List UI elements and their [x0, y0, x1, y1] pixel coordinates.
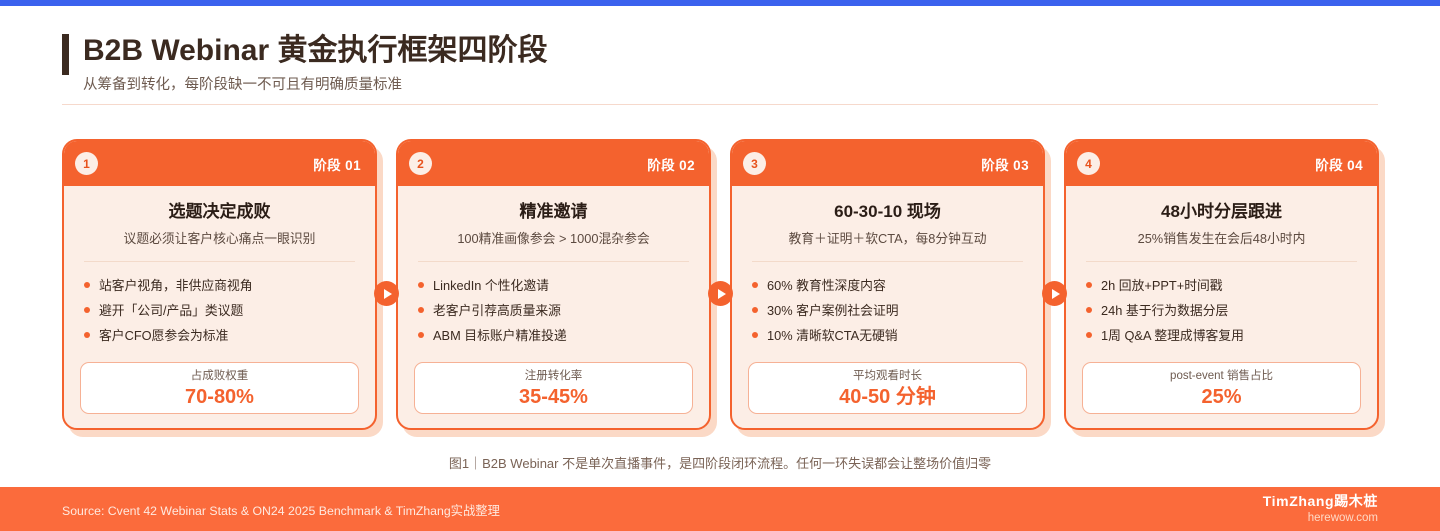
stage-stat-value: 70-80% — [185, 385, 254, 409]
header-divider — [62, 104, 1378, 105]
card-bullet-label: 站客户视角，非供应商视角 — [99, 278, 253, 293]
card-bullet: 24h 基于行为数据分层 — [1086, 298, 1361, 323]
card-bullet: 60% 教育性深度内容 — [752, 273, 1027, 298]
figure-caption: 图1｜B2B Webinar 不是单次直播事件，是四阶段闭环流程。任何一环失误都… — [0, 454, 1440, 474]
stage-card-3[interactable]: 3阶段 0360-30-10 现场教育＋证明＋软CTA，每8分钟互动60% 教育… — [730, 139, 1045, 430]
stage-bullet-list: 60% 教育性深度内容30% 客户案例社会证明10% 清晰软CTA无硬销 — [748, 273, 1027, 348]
play-arrow-icon — [1042, 281, 1067, 306]
card-bullet: 1周 Q&A 整理成博客复用 — [1086, 323, 1361, 348]
stage-card-body: 4阶段 0448小时分层跟进25%销售发生在会后48小时内2h 回放+PPT+时… — [1064, 139, 1379, 430]
card-bullet-label: 60% 教育性深度内容 — [767, 278, 886, 293]
play-triangle-icon — [384, 289, 392, 299]
stage-subtitle: 教育＋证明＋软CTA，每8分钟互动 — [748, 229, 1027, 249]
card-bullet-label: 老客户引荐高质量来源 — [433, 303, 561, 318]
card-bullet-label: 30% 客户案例社会证明 — [767, 303, 899, 318]
brand-url: herewow.com — [1263, 511, 1378, 526]
stage-card-divider — [418, 261, 689, 262]
stage-title: 选题决定成败 — [80, 200, 359, 224]
title-text-group: B2B Webinar 黄金执行框架四阶段 从筹备到转化，每阶段缺一不可且有明确… — [83, 32, 548, 96]
play-triangle-icon — [718, 289, 726, 299]
stage-stat-box: post-event 销售占比25% — [1082, 362, 1361, 414]
stage-card-divider — [1086, 261, 1357, 262]
bullet-dot-icon — [84, 332, 90, 338]
stage-subtitle: 25%销售发生在会后48小时内 — [1082, 229, 1361, 249]
stage-card-2[interactable]: 2阶段 02精准邀请100精准画像参会 > 1000混杂参会LinkedIn 个… — [396, 139, 711, 430]
card-bullet: 30% 客户案例社会证明 — [752, 298, 1027, 323]
stage-card-content: 60-30-10 现场教育＋证明＋软CTA，每8分钟互动60% 教育性深度内容3… — [732, 186, 1043, 428]
stage-cards-row: 1阶段 01选题决定成败议题必须让客户核心痛点一眼识别站客户视角，非供应商视角避… — [62, 139, 1378, 430]
title-row: B2B Webinar 黄金执行框架四阶段 从筹备到转化，每阶段缺一不可且有明确… — [62, 32, 1378, 96]
stage-stat-label: post-event 销售占比 — [1170, 368, 1273, 384]
stage-label: 阶段 01 — [313, 154, 361, 174]
stage-card-header: 2阶段 02 — [398, 141, 709, 186]
card-bullet-label: 避开「公司/产品」类议题 — [99, 303, 243, 318]
bullet-dot-icon — [1086, 332, 1092, 338]
play-arrow-icon — [708, 281, 733, 306]
stage-title: 60-30-10 现场 — [748, 200, 1027, 224]
stage-card-4[interactable]: 4阶段 0448小时分层跟进25%销售发生在会后48小时内2h 回放+PPT+时… — [1064, 139, 1379, 430]
stage-card-content: 选题决定成败议题必须让客户核心痛点一眼识别站客户视角，非供应商视角避开「公司/产… — [64, 186, 375, 428]
stage-stat-label: 平均观看时长 — [853, 368, 922, 384]
card-bullet: 老客户引荐高质量来源 — [418, 298, 693, 323]
page-title: B2B Webinar 黄金执行框架四阶段 — [83, 32, 548, 70]
stage-title: 48小时分层跟进 — [1082, 200, 1361, 224]
card-bullet-label: 客户CFO愿参会为标准 — [99, 328, 228, 343]
bullet-dot-icon — [418, 332, 424, 338]
stage-title: 精准邀请 — [414, 200, 693, 224]
bullet-dot-icon — [418, 307, 424, 313]
bullet-dot-icon — [418, 282, 424, 288]
top-accent-strip — [0, 0, 1440, 6]
bullet-dot-icon — [1086, 282, 1092, 288]
stage-stat-label: 注册转化率 — [525, 368, 583, 384]
stage-card-divider — [84, 261, 355, 262]
stage-subtitle: 议题必须让客户核心痛点一眼识别 — [80, 229, 359, 249]
card-bullet: 客户CFO愿参会为标准 — [84, 323, 359, 348]
card-bullet-label: 24h 基于行为数据分层 — [1101, 303, 1228, 318]
title-accent-bar — [62, 34, 69, 75]
brand-name: TimZhang踢木桩 — [1263, 492, 1378, 511]
page-footer: Source: Cvent 42 Webinar Stats & ON24 20… — [0, 487, 1440, 531]
card-bullet: ABM 目标账户精准投递 — [418, 323, 693, 348]
stage-subtitle: 100精准画像参会 > 1000混杂参会 — [414, 229, 693, 249]
stage-card-header: 4阶段 04 — [1066, 141, 1377, 186]
stage-number-badge: 1 — [75, 152, 98, 175]
bullet-dot-icon — [84, 282, 90, 288]
page-subtitle: 从筹备到转化，每阶段缺一不可且有明确质量标准 — [83, 74, 548, 96]
bullet-dot-icon — [752, 307, 758, 313]
stage-stat-value: 25% — [1201, 385, 1241, 409]
card-bullet: 避开「公司/产品」类议题 — [84, 298, 359, 323]
bullet-dot-icon — [84, 307, 90, 313]
stage-label: 阶段 04 — [1315, 154, 1363, 174]
card-bullet: 站客户视角，非供应商视角 — [84, 273, 359, 298]
stage-bullet-list: 站客户视角，非供应商视角避开「公司/产品」类议题客户CFO愿参会为标准 — [80, 273, 359, 348]
bullet-dot-icon — [752, 282, 758, 288]
stage-card-header: 3阶段 03 — [732, 141, 1043, 186]
stage-bullet-list: 2h 回放+PPT+时间戳24h 基于行为数据分层1周 Q&A 整理成博客复用 — [1082, 273, 1361, 348]
stage-stat-value: 35-45% — [519, 385, 588, 409]
stage-stat-box: 占成败权重70-80% — [80, 362, 359, 414]
stage-stat-box: 注册转化率35-45% — [414, 362, 693, 414]
stage-card-body: 2阶段 02精准邀请100精准画像参会 > 1000混杂参会LinkedIn 个… — [396, 139, 711, 430]
card-bullet: 10% 清晰软CTA无硬销 — [752, 323, 1027, 348]
stage-card-content: 精准邀请100精准画像参会 > 1000混杂参会LinkedIn 个性化邀请老客… — [398, 186, 709, 428]
stage-card-1[interactable]: 1阶段 01选题决定成败议题必须让客户核心痛点一眼识别站客户视角，非供应商视角避… — [62, 139, 377, 430]
stage-bullet-list: LinkedIn 个性化邀请老客户引荐高质量来源ABM 目标账户精准投递 — [414, 273, 693, 348]
footer-brand: TimZhang踢木桩 herewow.com — [1263, 492, 1378, 526]
page-header: B2B Webinar 黄金执行框架四阶段 从筹备到转化，每阶段缺一不可且有明确… — [62, 32, 1378, 96]
card-bullet-label: ABM 目标账户精准投递 — [433, 328, 567, 343]
stage-label: 阶段 02 — [647, 154, 695, 174]
stage-card-header: 1阶段 01 — [64, 141, 375, 186]
stage-card-content: 48小时分层跟进25%销售发生在会后48小时内2h 回放+PPT+时间戳24h … — [1066, 186, 1377, 428]
stage-stat-box: 平均观看时长40-50 分钟 — [748, 362, 1027, 414]
stage-stat-value: 40-50 分钟 — [839, 385, 936, 409]
play-triangle-icon — [1052, 289, 1060, 299]
stage-label: 阶段 03 — [981, 154, 1029, 174]
card-bullet: LinkedIn 个性化邀请 — [418, 273, 693, 298]
bullet-dot-icon — [752, 332, 758, 338]
stage-number-badge: 3 — [743, 152, 766, 175]
card-bullet-label: 1周 Q&A 整理成博客复用 — [1101, 328, 1244, 343]
stage-stat-label: 占成败权重 — [191, 368, 249, 384]
card-bullet: 2h 回放+PPT+时间戳 — [1086, 273, 1361, 298]
stage-number-badge: 2 — [409, 152, 432, 175]
card-bullet-label: 10% 清晰软CTA无硬销 — [767, 328, 898, 343]
stage-card-body: 3阶段 0360-30-10 现场教育＋证明＋软CTA，每8分钟互动60% 教育… — [730, 139, 1045, 430]
card-bullet-label: LinkedIn 个性化邀请 — [433, 278, 549, 293]
stage-card-divider — [752, 261, 1023, 262]
card-bullet-label: 2h 回放+PPT+时间戳 — [1101, 278, 1223, 293]
stage-card-body: 1阶段 01选题决定成败议题必须让客户核心痛点一眼识别站客户视角，非供应商视角避… — [62, 139, 377, 430]
stage-number-badge: 4 — [1077, 152, 1100, 175]
bullet-dot-icon — [1086, 307, 1092, 313]
play-arrow-icon — [374, 281, 399, 306]
footer-source-text: Source: Cvent 42 Webinar Stats & ON24 20… — [62, 501, 500, 519]
